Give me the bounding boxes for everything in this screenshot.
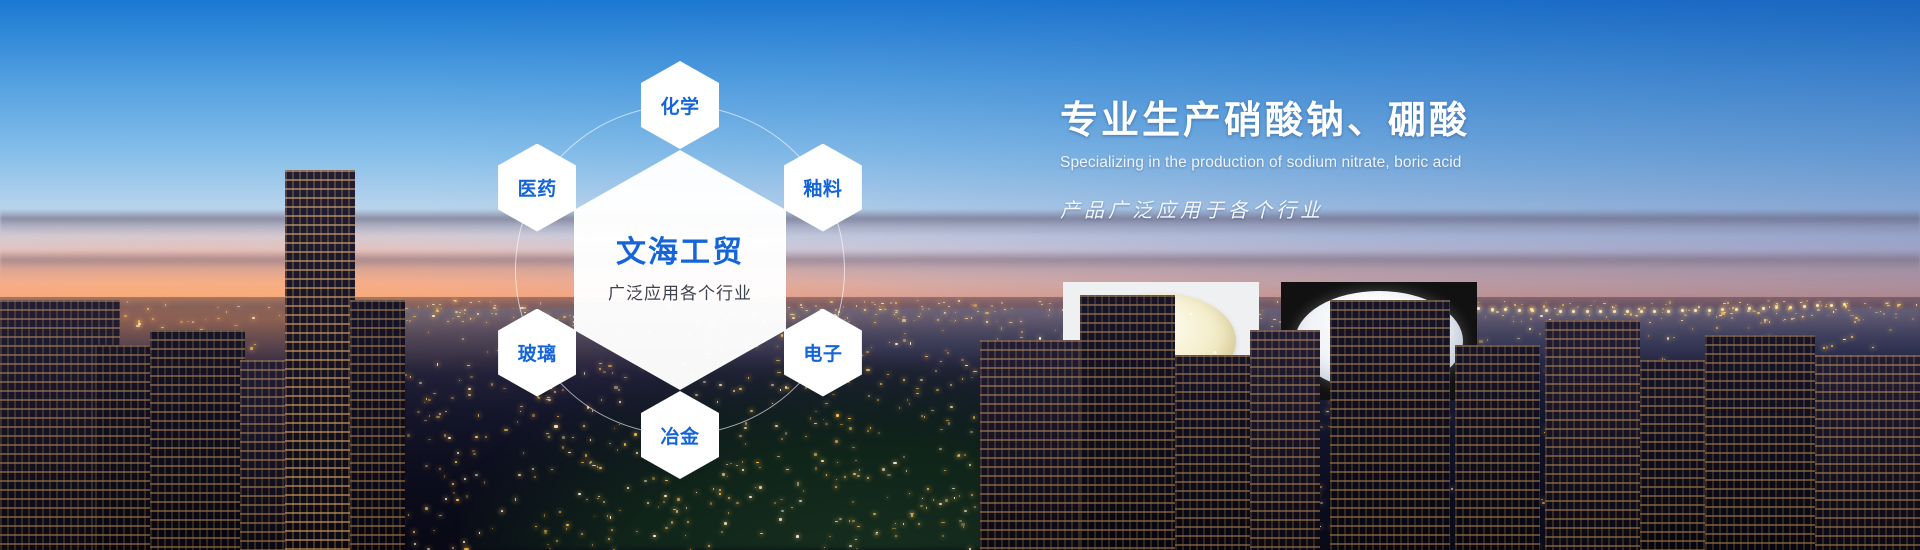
company-name: 文海工贸	[616, 236, 744, 271]
hex-node-label: 釉料	[803, 174, 842, 201]
tagline-chinese: 产品广泛应用于各个行业	[1060, 194, 1860, 223]
background-cityscape	[0, 0, 1920, 550]
industry-hex-diagram: 化学 釉料 电子 冶金 玻璃 医药 文海工贸 广泛应用各个行业	[430, 20, 930, 520]
hex-node-label: 玻璃	[518, 339, 557, 366]
hex-node-label: 化学	[660, 92, 699, 119]
promo-banner: 化学 釉料 电子 冶金 玻璃 医药 文海工贸 广泛应用各个行业 专业生产硝酸钠、…	[0, 0, 1920, 550]
headline-block: 专业生产硝酸钠、硼酸 Specializing in the productio…	[1060, 98, 1860, 223]
hex-node-label: 冶金	[660, 422, 699, 449]
company-slogan: 广泛应用各个行业	[608, 279, 752, 304]
headline-english: Specializing in the production of sodium…	[1060, 154, 1860, 172]
hex-node-label: 电子	[803, 339, 842, 366]
hex-node-label: 医药	[518, 174, 557, 201]
headline-chinese: 专业生产硝酸钠、硼酸	[1060, 98, 1860, 146]
